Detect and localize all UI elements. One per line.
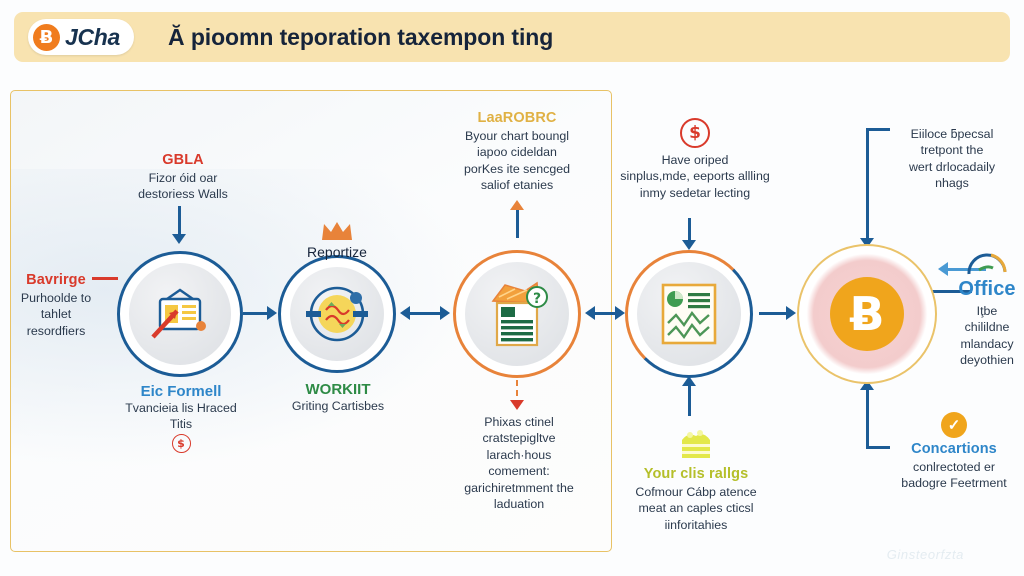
- dollar-circle-icon: $: [680, 118, 710, 148]
- crown-icon: [320, 220, 354, 242]
- connector-arrow-left: [585, 306, 595, 320]
- note-right-bottom-body: conlrectoted er badogre Feetrment: [884, 459, 1024, 492]
- process-node-1[interactable]: [117, 251, 243, 377]
- arc-swoosh-icon: [965, 252, 1009, 278]
- note-node3-bottom-body: Phixas ctinel cratstepigltve larach·hous…: [440, 414, 598, 512]
- brand-name: JCha: [65, 24, 120, 51]
- note-node4-bottom-body: Cofmour Cábp atence meat an caples ctics…: [612, 484, 780, 533]
- brand-logo[interactable]: Ƀ JCha: [28, 19, 134, 55]
- note-node4-bottom: Your clis rallgs Cofmour Cábp atence mea…: [612, 428, 780, 533]
- note-right-mid-icon-wrap: [950, 252, 1024, 278]
- node-5-inner: Ƀ: [806, 253, 928, 375]
- node-2-caption: WORKIIT Griting Cartisbes: [263, 381, 413, 414]
- exchange-circle-icon: [298, 280, 376, 348]
- node-3-inner: ?: [465, 262, 569, 366]
- page-title: Ă pioomn teporation taxempon ting: [168, 24, 553, 51]
- node-2-caption-sub: Griting Cartisbes: [263, 398, 413, 414]
- node-1-badge: $: [95, 434, 267, 453]
- note-node3-top-heading: LaaROBRC: [436, 110, 598, 126]
- note-right-mid-heading: Office: [950, 278, 1024, 301]
- connector-arrow-left: [400, 306, 410, 320]
- note-node3-top-body: Byour chart boungl iapoo cideldan porKes…: [436, 128, 598, 194]
- bitcoin-icon: Ƀ: [830, 277, 904, 351]
- document-money-icon: ?: [479, 277, 555, 351]
- note-right-mid-body: Iţbe chilildne mlandacy deyothien: [950, 303, 1024, 369]
- bitcoin-icon: Ƀ: [33, 24, 60, 51]
- note-left-side-body: Purhoolde to tahlet resordfiers: [4, 290, 108, 339]
- connector-arrow-right: [267, 306, 277, 320]
- note-node1-top-heading: GBLA: [108, 152, 258, 168]
- note-node4-bottom-heading: Your clis rallgs: [612, 466, 780, 482]
- process-node-3[interactable]: ?: [453, 250, 581, 378]
- note-node4-top: $ Have oriped sinplus,mde, eeports allli…: [600, 118, 790, 201]
- node-1-inner: [129, 263, 231, 365]
- note-node4-bottom-icon-wrap: [612, 428, 780, 462]
- note-right-top-body: Eiiloce ƃpecsal tretpont the wert drloca…: [884, 126, 1020, 192]
- note-left-side-heading: Bavrirge: [4, 272, 108, 288]
- node-2-caption-title: WORKIIT: [263, 381, 413, 398]
- connector-arrow-right: [615, 306, 625, 320]
- infographic-canvas: Ƀ JCha Ă pioomn teporation taxempon ting: [0, 0, 1024, 576]
- connector-1-2: [243, 312, 269, 315]
- note-node4-top-body: Have oriped sinplus,mde, eeports allling…: [600, 152, 790, 201]
- node-4-inner: [637, 262, 741, 366]
- node-2-top-caption: Reportize: [277, 220, 397, 260]
- svg-text:?: ?: [533, 291, 541, 307]
- process-node-4[interactable]: [625, 250, 753, 378]
- note-right-bottom: ✓ Concartions conlrectoted er badogre Fe…: [884, 412, 1024, 492]
- node-1-caption: Eic Formell Tvancieia lis Hraced Titis $: [95, 383, 267, 453]
- cake-slice-icon: [676, 428, 716, 462]
- process-node-2[interactable]: [278, 255, 396, 373]
- right-bracket-top: [866, 128, 869, 220]
- right-bracket-bottom: [866, 398, 869, 448]
- node-1-caption-title: Eic Formell: [95, 383, 267, 400]
- note-right-mid: Office Iţbe chilildne mlandacy deyothien: [950, 252, 1024, 369]
- connector-2-3: [404, 312, 444, 315]
- connector-arrow-left: [938, 262, 948, 276]
- connector-arrow-right: [786, 306, 796, 320]
- watermark: Ginsteorfzta: [887, 547, 964, 562]
- id-card-icon: [147, 285, 213, 343]
- header-bar: Ƀ JCha Ă pioomn teporation taxempon ting: [14, 12, 1010, 62]
- connector-arrow-down: [682, 240, 696, 250]
- dollar-circle-icon: $: [172, 434, 191, 453]
- chart-report-icon: [657, 279, 721, 349]
- note-right-bottom-icon-wrap: ✓: [884, 412, 1024, 438]
- note-left-side: Bavrirge Purhoolde to tahlet resordfiers: [4, 272, 108, 339]
- connector-arrow-up: [510, 200, 524, 210]
- node-2-caption-top: Reportize: [277, 244, 397, 260]
- connector-note-node3-top: [516, 208, 519, 238]
- connector-arrow-down: [510, 400, 524, 410]
- process-node-5[interactable]: Ƀ: [797, 244, 937, 384]
- note-node3-bottom: Phixas ctinel cratstepigltve larach·hous…: [440, 414, 598, 512]
- note-node1-top-body: Fizor óid oar destoriess Walls: [108, 170, 258, 203]
- connector-arrow-down: [172, 234, 186, 244]
- node-1-caption-sub: Tvancieia lis Hraced Titis: [95, 400, 267, 432]
- node-2-inner: [290, 267, 384, 361]
- note-node3-top: LaaROBRC Byour chart boungl iapoo cideld…: [436, 110, 598, 194]
- note-node1-top: GBLA Fizor óid oar destoriess Walls: [108, 152, 258, 203]
- connector-arrow-right: [440, 306, 450, 320]
- check-badge-icon: ✓: [941, 412, 967, 438]
- connector-note-node4-bottom: [688, 382, 691, 416]
- note-right-bottom-heading: Concartions: [884, 441, 1024, 457]
- note-node4-top-icon-wrap: $: [600, 118, 790, 148]
- note-right-top: Eiiloce ƃpecsal tretpont the wert drloca…: [884, 126, 1020, 192]
